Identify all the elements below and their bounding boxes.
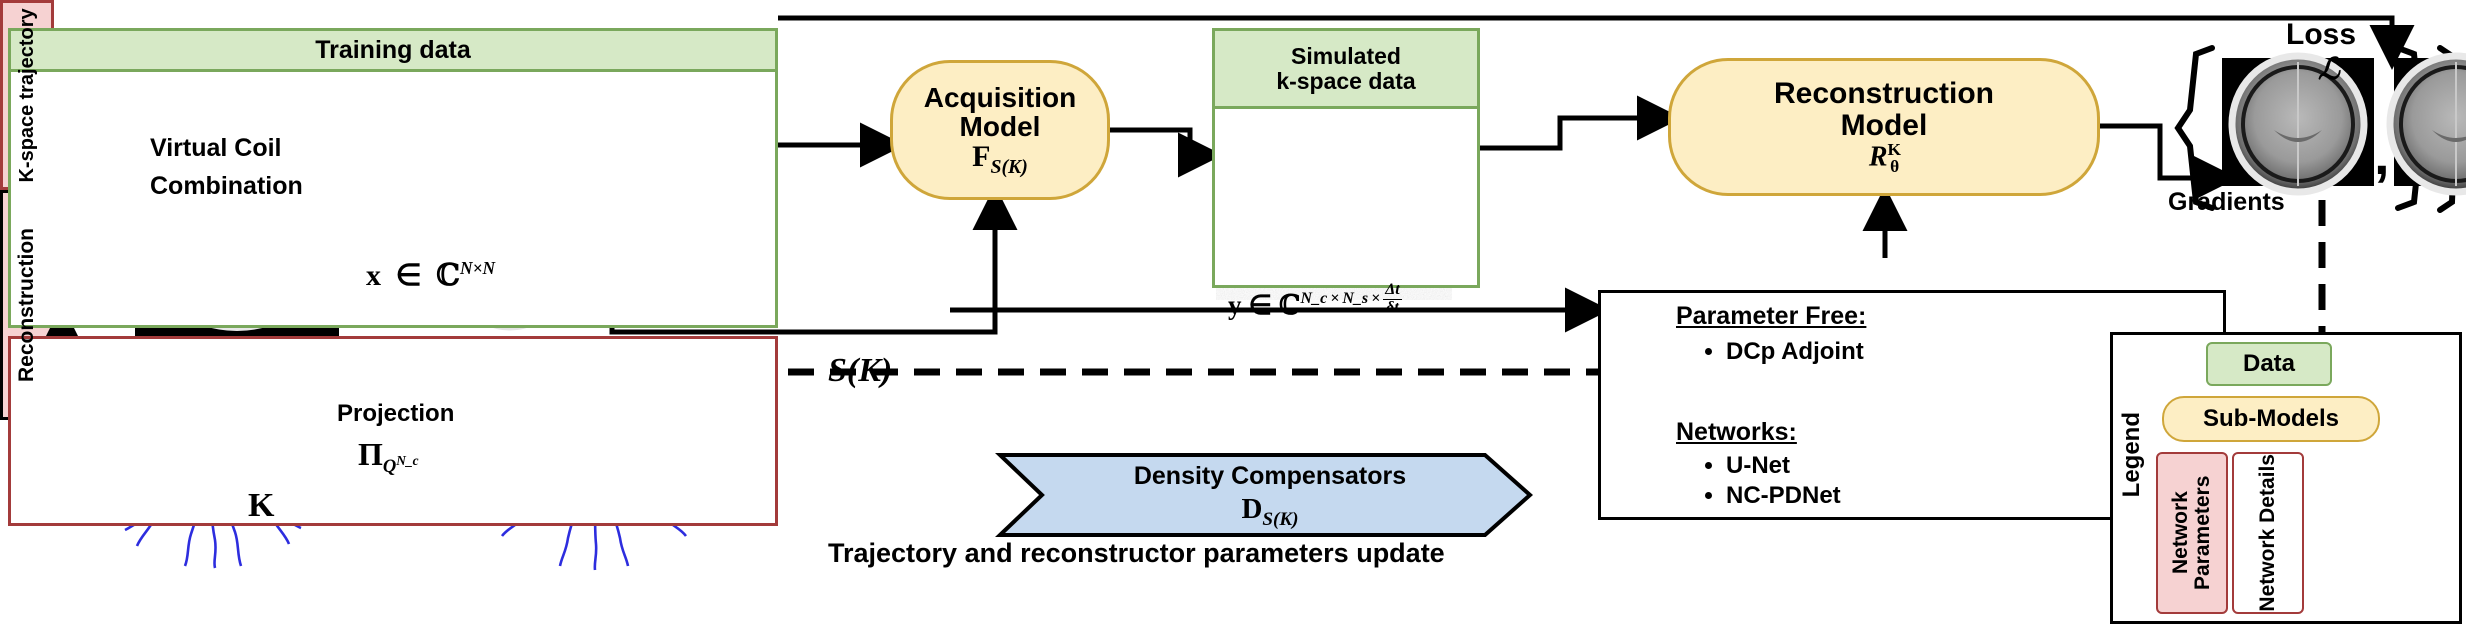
figure-canvas: Training data Virtual Coil Combination x… [0, 0, 2466, 630]
tensor-y: y [1228, 290, 1242, 321]
tensor-y-exp-ns: N_s [1342, 290, 1368, 308]
networks-title: Networks: [1676, 418, 1797, 447]
legend-sub-models-text: Sub-Models [2203, 405, 2339, 433]
tensor-space: ℂ [436, 258, 460, 293]
sk-symbol-label: S(K) [828, 352, 892, 390]
legend-item-data: Data [2206, 342, 2332, 386]
recon-panel-label: Reconstruction [16, 228, 38, 382]
training-data-title: Training data [315, 37, 471, 64]
kspace-trajectory-box [8, 336, 778, 526]
gradients-label: Gradients [2168, 188, 2285, 217]
vcc-line-1: Virtual Coil [150, 130, 303, 168]
legend-vertical-label: Legend [2118, 412, 2146, 497]
times-1: × [1330, 290, 1339, 308]
legend-data-text: Data [2243, 350, 2295, 378]
projection-label: Projection [337, 400, 454, 428]
acquisition-model-line-2: Model [960, 112, 1041, 141]
tensor-y-in: ∈ [1242, 290, 1280, 321]
k-symbol: K [248, 487, 274, 524]
k-symbol-label: K [248, 487, 274, 525]
reconstruction-model-line-2: Model [1841, 110, 1928, 141]
legend-network-parameters-text: Network Parameters [2170, 454, 2214, 612]
tensor-exponent: N×N [460, 258, 495, 278]
recon-R-sub: θ [1890, 157, 1899, 176]
comma: , [2374, 123, 2390, 186]
projection-operator: ΠQN_c [358, 436, 419, 478]
acquisition-model-node[interactable]: Acquisition Model FS(K) [890, 60, 1110, 200]
vcc-line-2: Combination [150, 168, 303, 206]
legend-item-sub-models: Sub-Models [2162, 396, 2380, 442]
recon-R: R [1869, 141, 1888, 172]
parameter-free-title: Parameter Free: [1676, 302, 1866, 331]
dc-D-sub: S(K) [1262, 509, 1298, 530]
list-item[interactable]: NC-PDNet [1726, 482, 1841, 510]
reconstruction-model-symbol: RKθ [1869, 141, 1899, 176]
loss-separator: , [2374, 122, 2390, 187]
tensor-in: ∈ [389, 259, 429, 292]
loss-L: ℒ [2318, 53, 2340, 86]
acquisition-model-line-1: Acquisition [924, 83, 1076, 112]
gradients-text: Gradients [2168, 188, 2285, 216]
parameter-free-list: DCp Adjoint [1700, 336, 1864, 368]
loss-label: Loss [2286, 18, 2356, 52]
virtual-coil-combination-label: Virtual Coil Combination [150, 130, 303, 205]
sim-hdr-line-2: k-space data [1276, 69, 1415, 93]
legend-label-text: Legend [2118, 412, 2145, 497]
projection-pi: Π [358, 436, 383, 472]
sim-hdr-line-1: Simulated [1291, 44, 1401, 68]
density-compensators-label: Density Compensators [1060, 462, 1480, 491]
sk-symbol: S(K) [828, 352, 892, 389]
pf-title: Parameter Free: [1676, 302, 1866, 330]
legend-item-network-parameters: Network Parameters [2156, 452, 2228, 614]
acquisition-model-symbol: FS(K) [972, 141, 1028, 178]
traj-label-line-1: K-space [16, 104, 38, 182]
kspace-tensor-formula: y ∈ ℂ N_c × N_s × Δt δt [1228, 290, 1402, 325]
reconstruction-model-node[interactable]: Reconstruction Model RKθ [1668, 58, 2100, 196]
acq-F-sub: S(K) [990, 156, 1027, 178]
tensor-y-space: ℂ [1279, 290, 1301, 321]
loss-symbol: ℒ [2318, 52, 2340, 87]
tensor-y-frac-den: δt [1383, 300, 1401, 317]
networks-list: U-Net NC-PDNet [1700, 450, 1841, 512]
list-item[interactable]: DCp Adjoint [1726, 338, 1864, 366]
list-item[interactable]: U-Net [1726, 452, 1841, 480]
legend-network-details-text: Network Details [2257, 454, 2279, 612]
simulated-kspace-header: Simulated k-space data [1215, 31, 1477, 109]
tensor-y-frac-num: Δt [1383, 282, 1401, 300]
times-2: × [1371, 290, 1380, 308]
dc-D: D [1241, 493, 1262, 525]
reconstruction-model-line-1: Reconstruction [1774, 78, 1994, 109]
training-data-header: Training data [11, 31, 775, 72]
tensor-x: x [366, 259, 381, 292]
density-compensators-node[interactable]: Density Compensators DS(K) [1060, 462, 1480, 531]
training-tensor-formula: x ∈ ℂN×N [366, 258, 495, 293]
recon-R-sup: K [1888, 140, 1902, 159]
net-title: Networks: [1676, 418, 1797, 446]
acq-F: F [972, 140, 990, 173]
loss-text: Loss [2286, 18, 2356, 51]
legend-item-network-details: Network Details [2232, 452, 2304, 614]
projection-sub-exp: N_c [396, 453, 418, 468]
projection-sub-q: Q [383, 456, 396, 477]
density-compensators-symbol: DS(K) [1060, 493, 1480, 531]
update-caption: Trajectory and reconstructor parameters … [828, 538, 1445, 569]
update-caption-text: Trajectory and reconstructor parameters … [828, 538, 1445, 568]
simulated-kspace-box: Simulated k-space data [1212, 28, 1480, 288]
tensor-y-exp-nc: N_c [1301, 290, 1328, 308]
projection-text: Projection [337, 400, 454, 427]
traj-label-line-2: trajectory [16, 8, 38, 99]
